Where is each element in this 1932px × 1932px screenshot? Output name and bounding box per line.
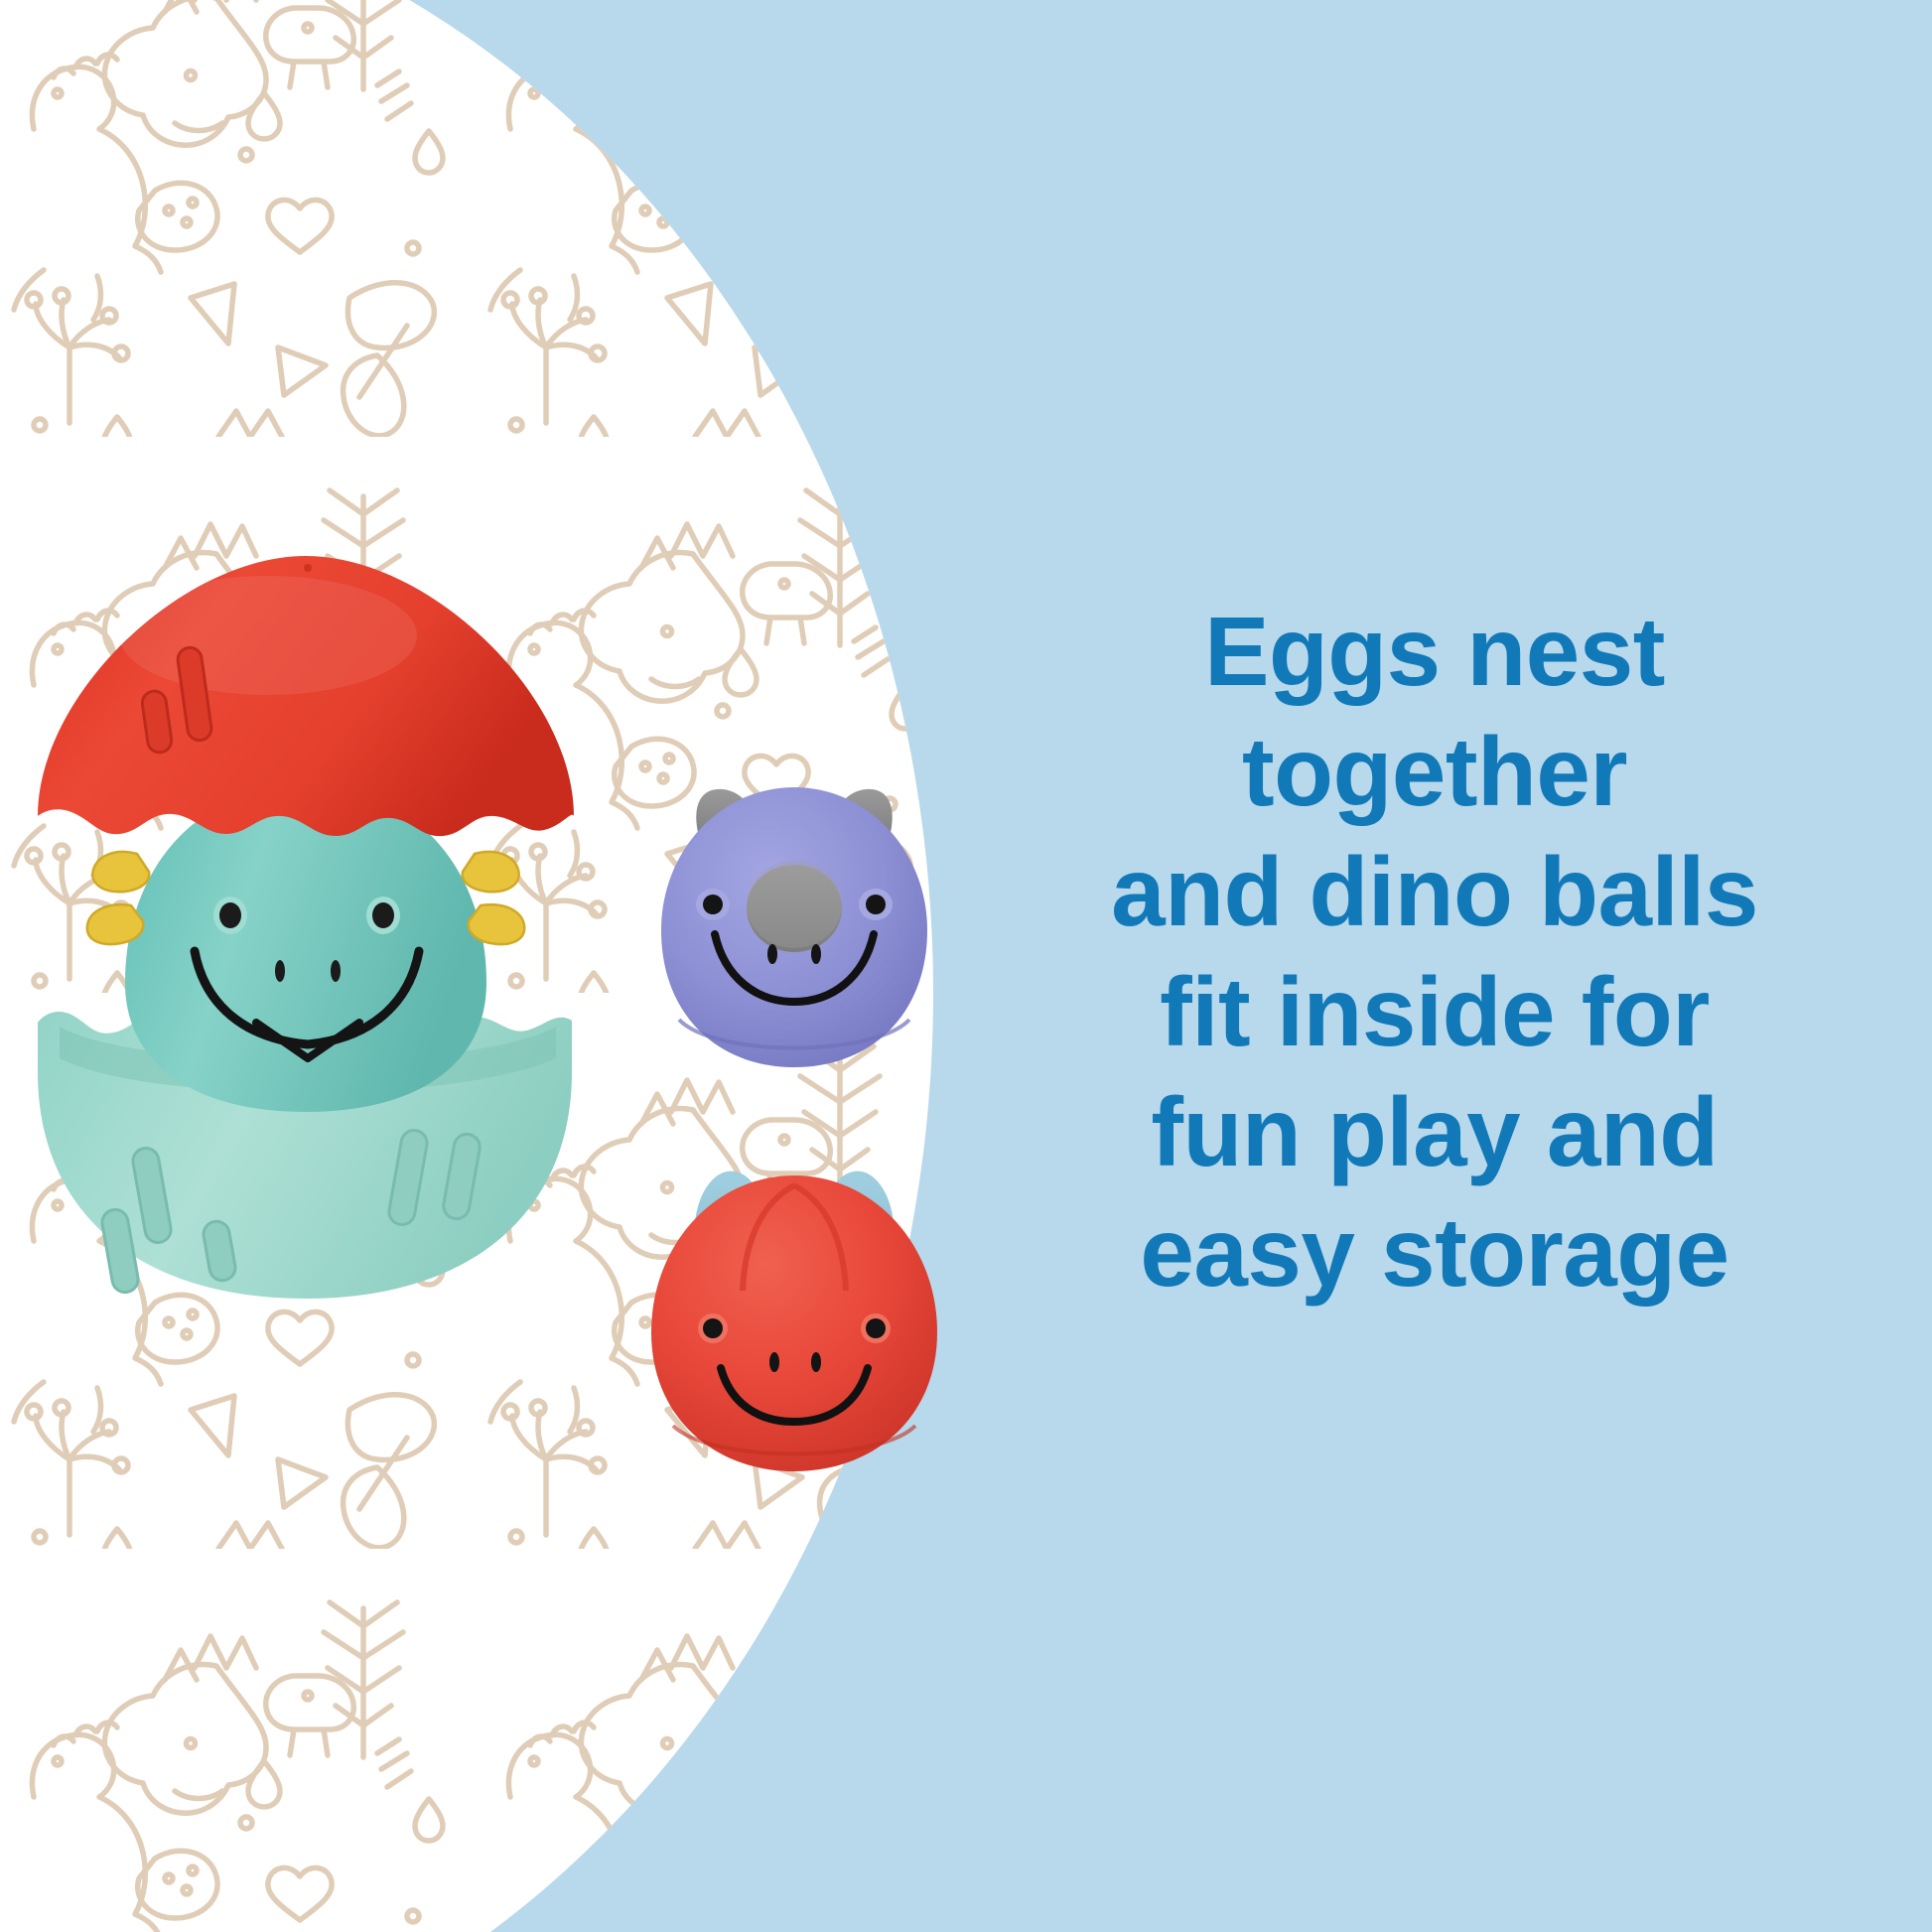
hatching-dino-egg-toy [20,556,635,1311]
egg-top-shell [38,556,574,836]
product-feature-image: Eggs nest together and dino balls fit in… [0,0,1932,1932]
dino-ball-red [635,1142,953,1494]
dino-ball-purple [645,769,943,1097]
headline-text: Eggs nest together and dino balls fit in… [993,592,1876,1312]
